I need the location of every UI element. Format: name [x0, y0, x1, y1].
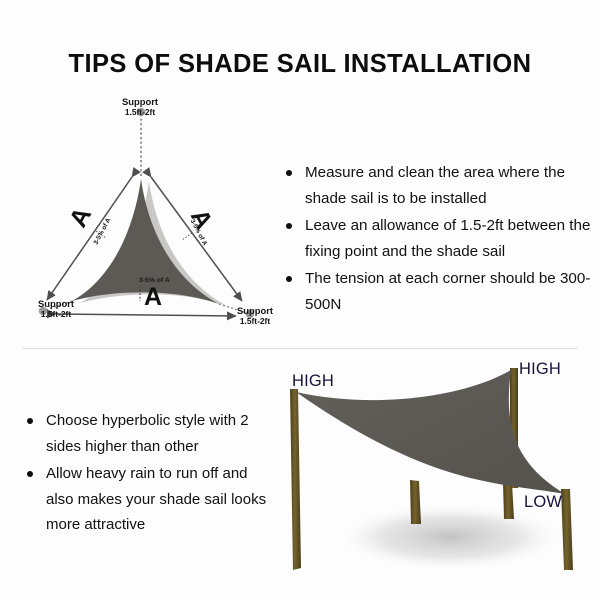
list-item: The tension at each corner should be 300…	[285, 266, 595, 317]
bullet-dot-icon	[27, 418, 33, 424]
label-low: LOW	[524, 493, 562, 512]
edge-length-label-bottom: A	[144, 283, 162, 312]
list-item: Choose hyperbolic style with 2 sides hig…	[26, 408, 278, 459]
sail-shape	[296, 370, 565, 494]
post-high-left	[290, 389, 301, 570]
bullet-dot-icon	[286, 223, 292, 229]
list-item-text: The tension at each corner should be 300…	[305, 270, 590, 313]
support-label-top-sub: 1.5ft-2ft	[92, 107, 188, 118]
support-label-top-title: Support	[92, 96, 188, 107]
ground-shadow	[335, 503, 565, 571]
label-high-left: HIGH	[292, 372, 334, 391]
infographic-page: TIPS OF SHADE SAIL INSTALLATION	[0, 0, 600, 600]
label-high-right: HIGH	[519, 360, 561, 379]
support-label-left-title: Support	[14, 298, 98, 309]
installation-tips-bottom-list: Choose hyperbolic style with 2 sides hig…	[26, 408, 278, 540]
support-label-left-sub: 1.5ft-2ft	[14, 309, 98, 320]
sag-tick-right	[182, 233, 192, 240]
post-low-right	[561, 489, 573, 570]
list-item-text: Allow heavy rain to run off and also mak…	[46, 465, 266, 533]
installation-tips-top-list: Measure and clean the area where the sha…	[285, 160, 595, 319]
list-item: Allow heavy rain to run off and also mak…	[26, 461, 278, 538]
page-title: TIPS OF SHADE SAIL INSTALLATION	[0, 50, 600, 79]
sag-percent-label-bottom: 3-5% of A	[139, 277, 170, 284]
list-item: Leave an allowance of 1.5-2ft between th…	[285, 213, 595, 264]
section-divider	[22, 348, 578, 349]
support-label-top: Support 1.5ft-2ft	[92, 96, 188, 118]
list-item: Measure and clean the area where the sha…	[285, 160, 595, 211]
post-front-center	[410, 480, 421, 524]
list-item-text: Measure and clean the area where the sha…	[305, 164, 565, 207]
support-label-left: Support 1.5ft-2ft	[14, 298, 98, 320]
bullet-dot-icon	[27, 471, 33, 477]
bullet-dot-icon	[286, 276, 292, 282]
bullet-dot-icon	[286, 170, 292, 176]
list-item-text: Choose hyperbolic style with 2 sides hig…	[46, 412, 249, 455]
list-item-text: Leave an allowance of 1.5-2ft between th…	[305, 217, 590, 260]
